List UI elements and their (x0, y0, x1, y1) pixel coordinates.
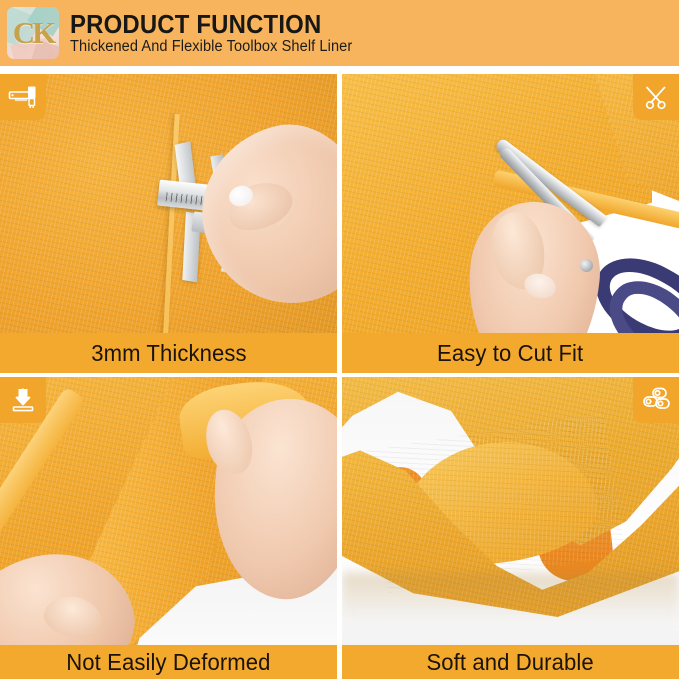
page-title: PRODUCT FUNCTION (70, 11, 346, 37)
scissors-icon (633, 74, 679, 120)
feature-panel-thickness: 3mm Thickness (0, 74, 337, 373)
header-gap-divider (0, 66, 679, 74)
panel-caption-deform: Not Easily Deformed (0, 645, 337, 679)
feature-panel-durable: Soft and Durable (342, 377, 679, 679)
caption-text: Not Easily Deformed (66, 649, 270, 676)
ck-brand-logo: CK (7, 7, 59, 59)
press-down-arrow-icon (0, 377, 46, 423)
photo-wavy-mat (342, 377, 679, 679)
logo-monogram: CK (7, 7, 59, 59)
mat-shadow (342, 573, 679, 623)
header-text-block: PRODUCT FUNCTION Thickened And Flexible … (70, 11, 370, 55)
panel-caption-cut: Easy to Cut Fit (342, 333, 679, 373)
page-subtitle: Thickened And Flexible Toolbox Shelf Lin… (70, 39, 352, 55)
panel-caption-durable: Soft and Durable (342, 645, 679, 679)
caption-text: Soft and Durable (427, 649, 594, 676)
feature-grid: 3mm Thickness (0, 74, 679, 679)
photo-hands-folding (0, 377, 337, 679)
feature-panel-cut: Easy to Cut Fit (342, 74, 679, 373)
scissors-pivot-screw (580, 259, 593, 272)
caliper-icon (0, 74, 46, 120)
photo-scissors-cutting (342, 74, 679, 373)
page-header: CK PRODUCT FUNCTION Thickened And Flexib… (0, 0, 679, 66)
material-rolls-icon (633, 377, 679, 423)
grid-horizontal-divider (0, 373, 679, 377)
panel-caption-thickness: 3mm Thickness (0, 333, 337, 373)
feature-panel-deform: Not Easily Deformed (0, 377, 337, 679)
caption-text: 3mm Thickness (91, 340, 246, 367)
photo-caliper-measuring (0, 74, 337, 373)
caption-text: Easy to Cut Fit (437, 340, 583, 367)
